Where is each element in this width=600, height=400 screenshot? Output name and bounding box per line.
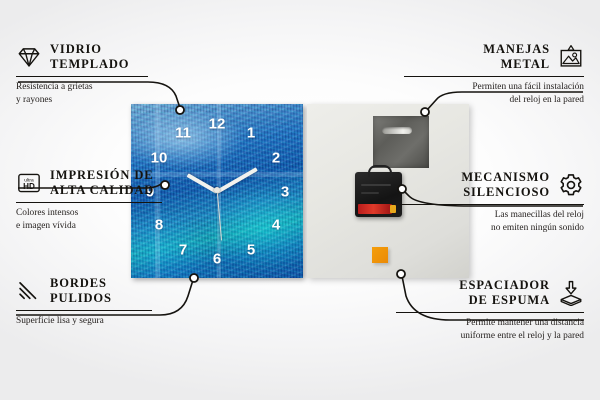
- callout-description: Resistencia a grietas y rayones: [16, 81, 196, 106]
- callout-rule: [16, 76, 148, 78]
- callout-title: BORDES PULIDOS: [50, 276, 112, 307]
- callout-rule: [396, 312, 584, 314]
- mechanism-detail: [361, 192, 379, 194]
- callout-description: Colores intensos e imagen vívida: [16, 207, 206, 232]
- callout-vidrio-templado[interactable]: VIDRIO TEMPLADO Resistencia a grietas y …: [16, 42, 196, 106]
- clock-numeral-10: 10: [151, 151, 168, 166]
- callout-bordes-pulidos[interactable]: BORDES PULIDOS Superficie lisa y segura: [16, 276, 196, 328]
- polished-edges-icon: [16, 278, 42, 304]
- callout-rule: [400, 204, 584, 206]
- callout-rule: [404, 76, 584, 78]
- callout-title: MANEJAS METAL: [483, 42, 550, 73]
- clock-numeral-2: 2: [272, 151, 280, 166]
- metal-hanger-plate: [373, 116, 429, 168]
- callout-title: MECANISMO SILENCIOSO: [461, 170, 550, 201]
- clock-numeral-5: 5: [247, 243, 255, 258]
- callout-description: Permiten una fácil instalación del reloj…: [404, 81, 584, 106]
- clock-numeral-11: 11: [175, 126, 191, 141]
- callout-header: VIDRIO TEMPLADO: [16, 42, 196, 73]
- foam-spacer-icon: [558, 280, 584, 306]
- callout-header: BORDES PULIDOS: [16, 276, 196, 307]
- mechanism-detail: [361, 184, 391, 186]
- clock-mechanism: [355, 172, 402, 217]
- clock-numeral-3: 3: [281, 185, 289, 200]
- clock-numeral-12: 12: [209, 117, 226, 132]
- battery: [358, 204, 392, 214]
- clock-numeral-6: 6: [213, 252, 221, 267]
- callout-title: ESPACIADOR DE ESPUMA: [459, 278, 550, 309]
- callout-description: Superficie lisa y segura: [16, 315, 196, 327]
- callout-header: MECANISMO SILENCIOSO: [400, 170, 584, 201]
- callout-title: VIDRIO TEMPLADO: [50, 42, 129, 73]
- gear-icon: [558, 172, 584, 198]
- callout-rule: [16, 310, 152, 312]
- callout-description: Las manecillas del reloj no emiten ningú…: [400, 209, 584, 234]
- callout-impresion-alta-calidad[interactable]: ultra HD IMPRESIÓN DE ALTA CALIDAD Color…: [16, 168, 206, 232]
- callout-espaciador-de-espuma[interactable]: ESPACIADOR DE ESPUMA Permite mantener un…: [396, 278, 584, 342]
- clock-center-cap: [214, 187, 220, 193]
- callout-header: ESPACIADOR DE ESPUMA: [396, 278, 584, 309]
- callout-title: IMPRESIÓN DE ALTA CALIDAD: [50, 168, 154, 199]
- callout-rule: [16, 202, 162, 204]
- ultra-hd-icon: ultra HD: [16, 170, 42, 196]
- clock-numeral-4: 4: [272, 218, 280, 233]
- picture-hanger-icon: [558, 44, 584, 70]
- callout-description: Permite mantener una distancia uniforme …: [396, 317, 584, 342]
- callout-mecanismo-silencioso[interactable]: MECANISMO SILENCIOSO Las manecillas del …: [400, 170, 584, 234]
- callout-header: MANEJAS METAL: [404, 42, 584, 73]
- mechanism-loop: [368, 165, 392, 177]
- svg-text:HD: HD: [23, 182, 35, 191]
- battery-terminal: [390, 205, 396, 213]
- infographic-canvas: 12 1 2 3 4 5 6 7 8 9 10 11: [0, 0, 600, 400]
- callout-header: ultra HD IMPRESIÓN DE ALTA CALIDAD: [16, 168, 206, 199]
- clock-numeral-7: 7: [179, 243, 187, 258]
- diamond-icon: [16, 44, 42, 70]
- hanger-slot: [382, 127, 412, 134]
- clock-numeral-1: 1: [247, 126, 255, 141]
- callout-manejas-metal[interactable]: MANEJAS METAL Permiten una fácil instala…: [404, 42, 584, 106]
- foam-spacer-pad: [372, 247, 388, 263]
